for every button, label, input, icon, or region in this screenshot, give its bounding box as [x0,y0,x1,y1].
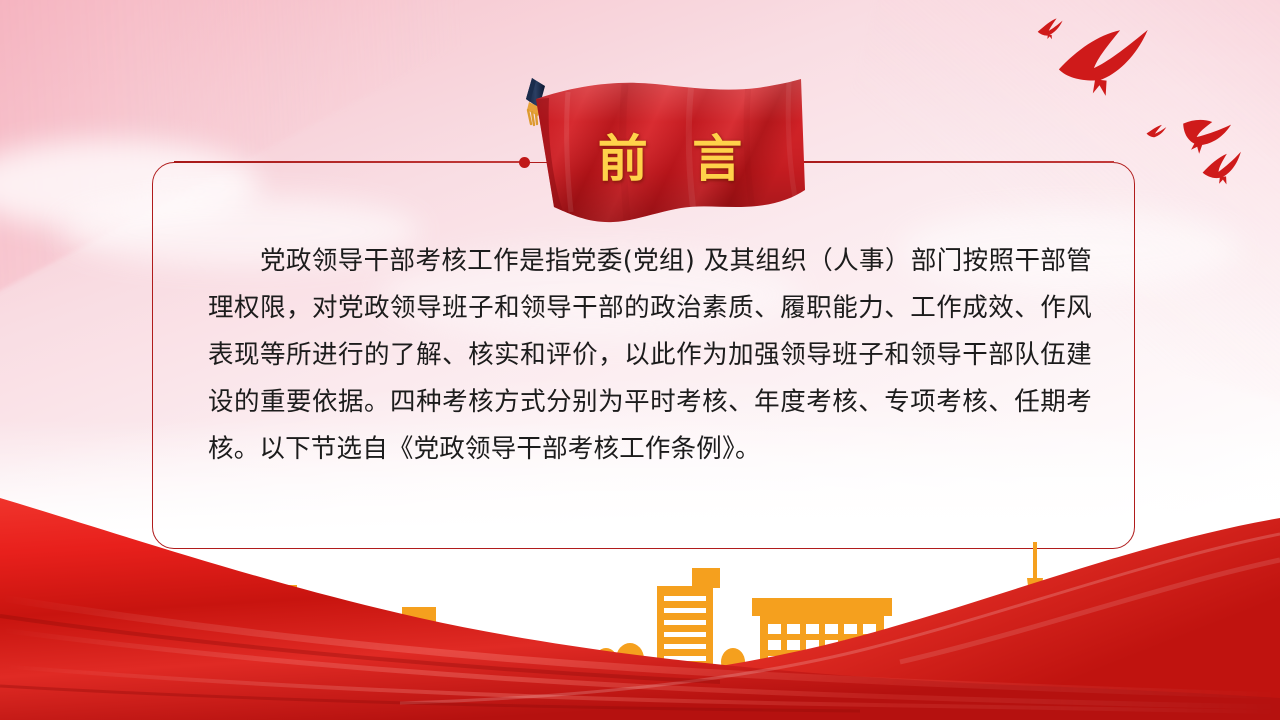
slide-canvas: 前 言 党政领导干部考核工作是指党委(党组) 及其组织（人事）部门按照干部管理权… [0,0,1280,720]
frame-top-segment-left [174,161,524,163]
flag-graphic [505,72,825,237]
bird-icon [1146,125,1167,138]
frame-top-segment-right [784,161,1114,163]
bird-icon [1036,17,1065,41]
title-flag: 前 言 [505,72,825,237]
preface-body-text: 党政领导干部考核工作是指党委(党组) 及其组织（人事）部门按照干部管理权限，对党… [208,238,1092,473]
bird-icon [1179,117,1231,157]
bird-icon [1055,27,1154,100]
red-silk-ribbon [0,490,1280,720]
bird-icon [1200,150,1248,189]
